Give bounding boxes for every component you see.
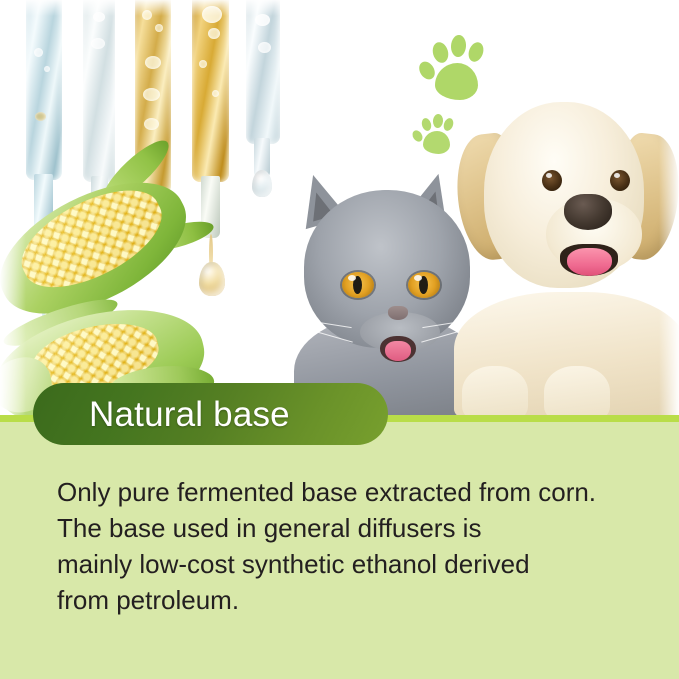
section-title-pill: Natural base — [33, 383, 388, 445]
dropper-tube — [83, 0, 115, 182]
cat-eye-right — [408, 272, 440, 298]
dropper-tube — [26, 0, 62, 180]
bubble — [155, 24, 163, 32]
paw-toe — [466, 40, 486, 64]
cat-tongue — [385, 341, 411, 361]
eye-highlight — [348, 275, 356, 281]
dog-head — [484, 102, 644, 288]
eye-highlight — [614, 173, 620, 178]
product-feature-card: Natural base Only pure fermented base ex… — [0, 0, 679, 679]
bubble — [212, 90, 219, 97]
bubble — [143, 88, 160, 101]
paw-toe — [430, 40, 450, 64]
paw-toe — [420, 117, 432, 132]
description-text: Only pure fermented base extracted from … — [57, 474, 647, 618]
dog-mouth — [560, 244, 618, 276]
page-title: Natural base — [33, 397, 290, 432]
hero-photo-area — [0, 0, 679, 418]
dropper-blue-5 — [242, 0, 286, 204]
bubble — [145, 56, 161, 69]
bubble — [93, 12, 105, 22]
liquid-drop — [252, 170, 272, 197]
paw-pad — [423, 131, 450, 154]
cat-mouth — [380, 336, 416, 362]
eye-highlight — [546, 173, 552, 178]
bubble — [91, 38, 105, 49]
dog-tongue — [567, 248, 612, 276]
bubble — [255, 14, 270, 26]
dropper-tube — [246, 0, 280, 144]
dog-nose — [564, 194, 612, 230]
paw-toe — [433, 114, 444, 129]
paw-toe — [416, 59, 438, 83]
description-line: Only pure fermented base extracted from … — [57, 474, 647, 510]
dog-paw-left — [462, 366, 528, 418]
description-line: from petroleum. — [57, 582, 647, 618]
description-line: mainly low-cost synthetic ethanol derive… — [57, 546, 647, 582]
dropper-tube — [192, 0, 229, 182]
paw-toe — [450, 35, 466, 58]
dog-eye-left — [542, 170, 562, 191]
cat-eye-left — [342, 272, 374, 298]
paw-pad — [435, 63, 478, 100]
dog-photo — [452, 96, 679, 418]
cat-head — [304, 190, 470, 348]
dog-paw-right — [544, 366, 610, 418]
cat-nose — [388, 306, 408, 320]
dog-eye-right — [610, 170, 630, 191]
bubble — [202, 6, 222, 23]
description-line: The base used in general diffusers is — [57, 510, 647, 546]
corn-group — [0, 190, 254, 365]
bubble — [142, 10, 152, 20]
bubble — [144, 118, 159, 130]
bubble — [35, 112, 46, 121]
eye-highlight — [414, 275, 422, 281]
bubble — [208, 28, 220, 39]
bubble — [258, 42, 271, 53]
bubble — [44, 66, 50, 72]
bubble — [34, 48, 43, 57]
paw-print-icon — [412, 112, 456, 156]
bubble — [199, 60, 207, 68]
paw-print-icon — [417, 33, 487, 103]
